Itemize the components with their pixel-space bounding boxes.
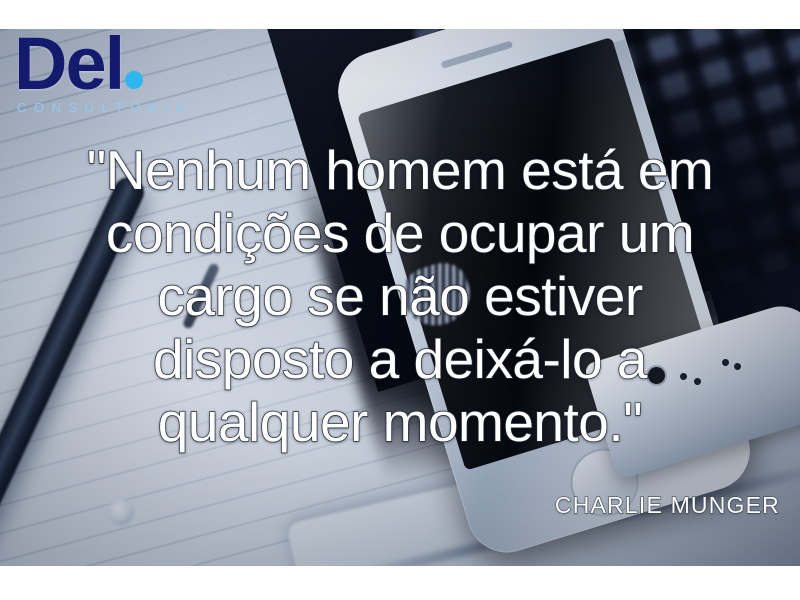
quote-line: cargo se não estiver [0, 265, 800, 328]
logo-wordmark-text: Del [14, 22, 123, 105]
quote-block: "Nenhum homem está em condições de ocupa… [0, 139, 800, 454]
quote-line: qualquer momento." [0, 391, 800, 454]
quote-line: disposto a deixá-lo a [0, 328, 800, 391]
bottom-letterbox-bar [0, 566, 800, 600]
blue-dot-icon [125, 71, 143, 89]
quote-line: "Nenhum homem está em [0, 139, 800, 202]
quote-author: CHARLIE MUNGER [555, 492, 780, 519]
logo-wordmark: Del [14, 31, 192, 98]
brand-logo: Del CONSULTORIA [14, 31, 192, 115]
quote-graphic: Del CONSULTORIA "Nenhum homem está em co… [0, 0, 800, 600]
logo-tagline: CONSULTORIA [17, 100, 192, 115]
quote-line: condições de ocupar um [0, 202, 800, 265]
pen-tip [108, 499, 134, 525]
